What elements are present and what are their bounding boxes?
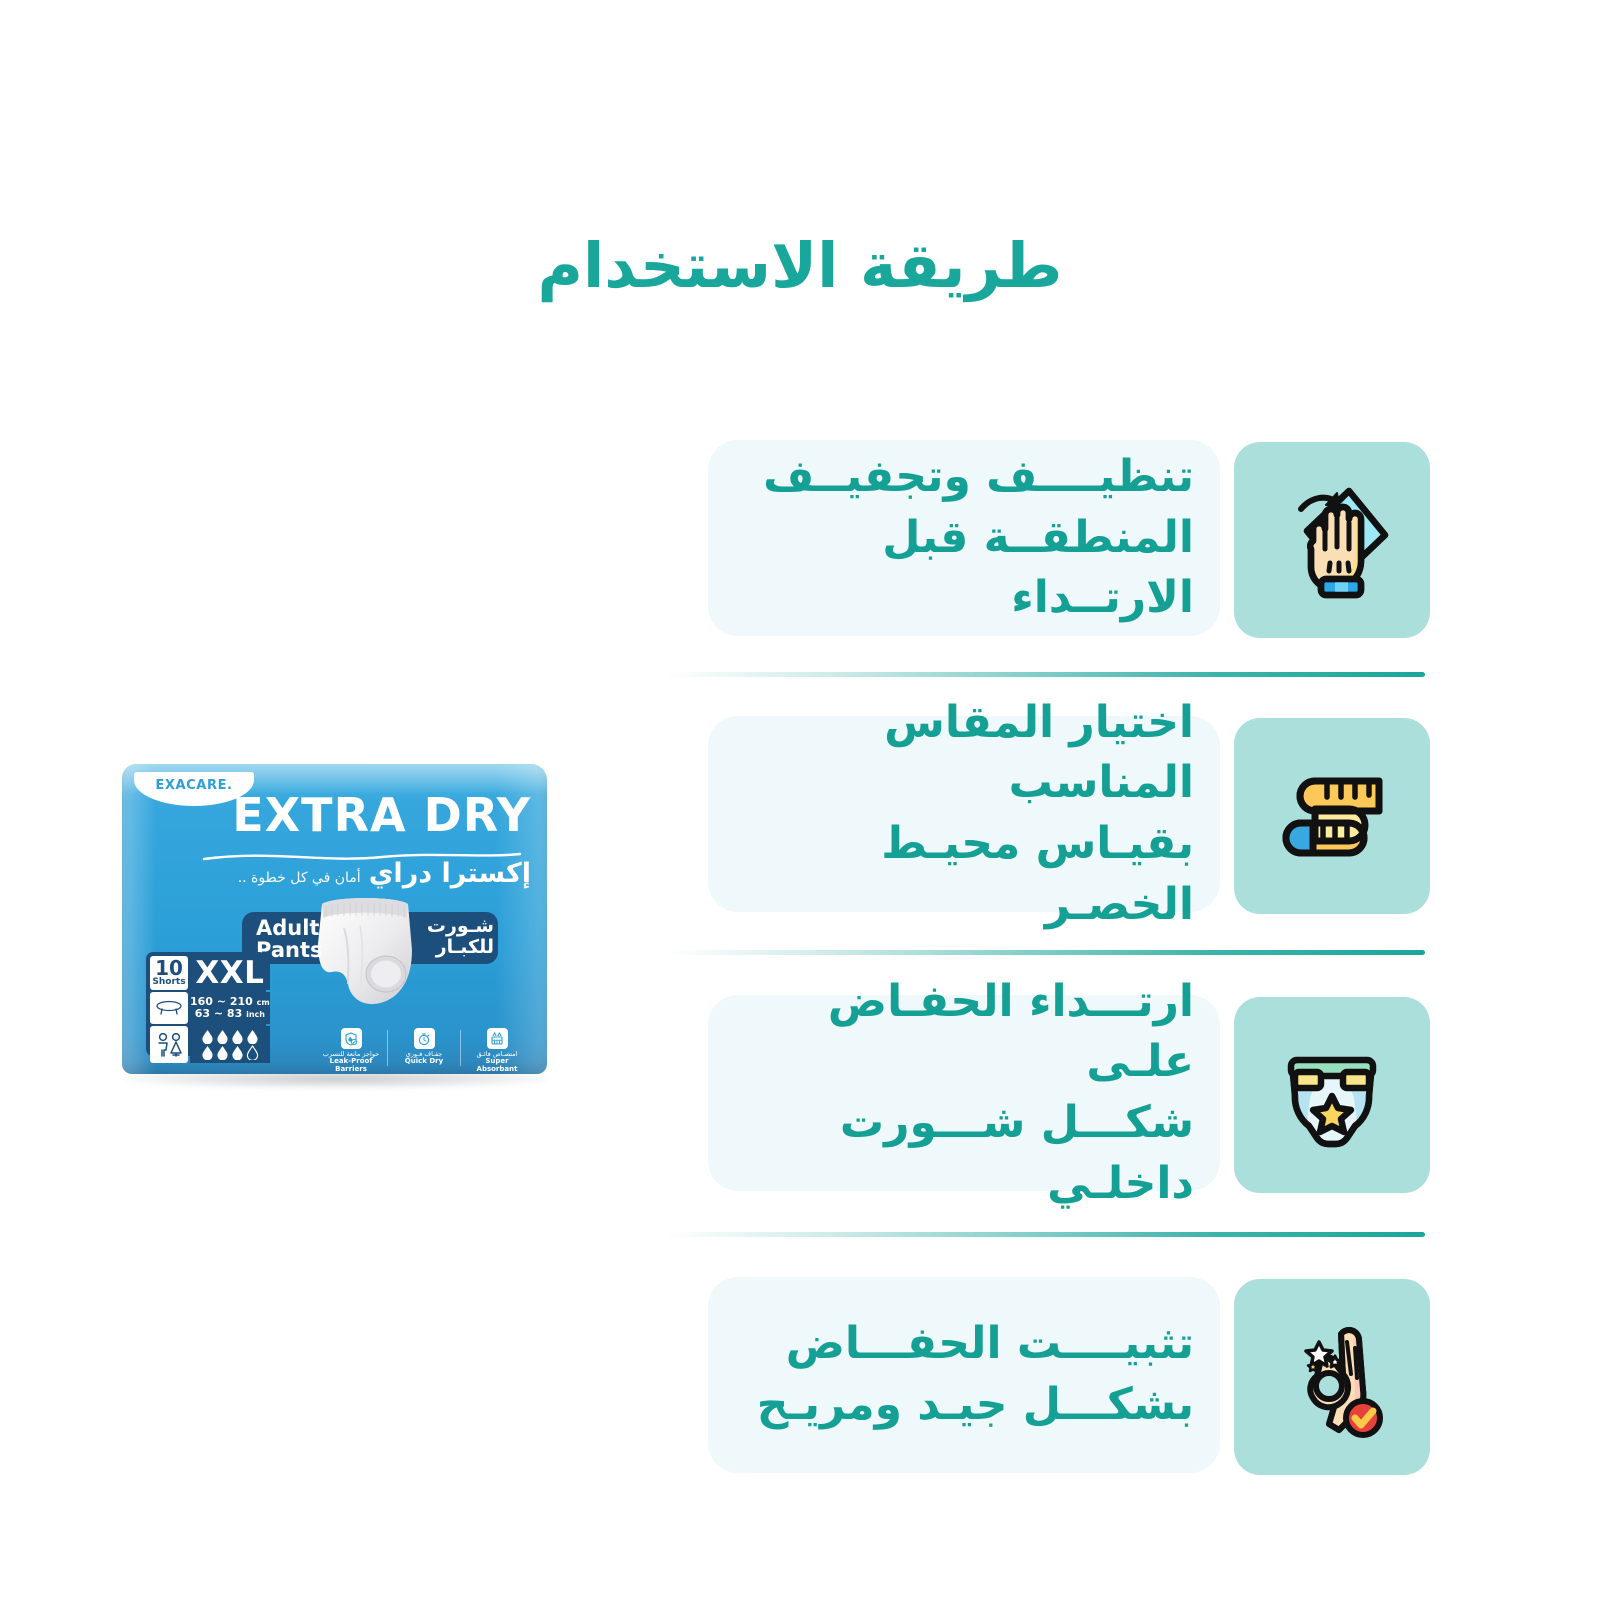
step-icon-tile-2 [1234,718,1430,914]
shield-drop-icon [341,1028,362,1049]
feature-super-absorbant: امتصـاص فائـق Super Absorbant [464,1028,530,1074]
drop-outline-8 [246,1045,259,1060]
step-card-2: اختيار المقاس المناسب بقيـاس محيـط الخصـ… [708,716,1220,912]
drop-filled-3 [231,1029,244,1044]
diaper-icon [1267,1030,1397,1160]
step-text-3: ارتـــداء الحفـاض علـى شكـــل شـــورت دا… [730,972,1194,1215]
waist-range: 160 ~ 210 cm 63 ~ 83 inch [190,992,270,1024]
product-title-ar: إكسترا دراي [369,858,531,889]
absorbency-drops [197,1026,263,1063]
drop-filled-4 [246,1029,259,1044]
drop-filled-1 [201,1029,214,1044]
waist-icon [150,992,188,1024]
step-text-1: تنظيــــف وتجفيــف المنطقــة قبل الارتــ… [730,447,1194,629]
brand-name: EXACARE. [155,778,232,793]
size-code: XXL [190,956,270,990]
pack-count-number: 10 [155,959,183,978]
product-tagline-ar: أمان في كل خطوة .. [238,870,361,886]
waist-range-inch: 63 ~ 83 inch [195,1008,265,1020]
feature-leak-proof-en: Leak-Proof Barriers [318,1058,384,1073]
hand-wipe-cloth-icon [1267,475,1397,605]
steps-list: تنظيــــف وتجفيــف المنطقــة قبل الارتــ… [660,432,1430,1522]
ok-hand-check-icon [1267,1312,1397,1442]
feature-super-absorbant-en: Super Absorbant [464,1058,530,1073]
product-package: EXACARE. EXTRA DRY إكسترا دراي أمان في ك… [118,760,558,1100]
product-features: حواجز مانعة للتسرب Leak-Proof Barriers ج… [318,1028,530,1072]
absorb-layers-icon [487,1028,508,1049]
absorbency-rating [190,1026,270,1063]
step-icon-tile-1 [1234,442,1430,638]
page-title: طريقة الاستخدام [0,232,1600,300]
step-text-4: تثبيــــت الحفـــاض بشكـــل جيـد ومريـح [730,1314,1194,1435]
adult-pants-label-en: Adult Pants [256,917,323,962]
measuring-tape-icon [1267,751,1397,881]
size-spec-box: 10 Shorts XXL 160 ~ 210 cm 63 ~ 83 inch [146,952,266,1056]
step-text-2: اختيار المقاس المناسب بقيـاس محيـط الخصـ… [730,693,1194,936]
step-item-1: تنظيــــف وتجفيــف المنطقــة قبل الارتــ… [660,440,1430,652]
product-subtitle-ar: إكسترا دراي أمان في كل خطوة .. [238,858,531,889]
feature-quick-dry-en: Quick Dry [391,1058,457,1066]
feature-leak-proof: حواجز مانعة للتسرب Leak-Proof Barriers [318,1028,384,1074]
drop-filled-5 [201,1045,214,1060]
stopwatch-icon [414,1028,435,1049]
step-card-3: ارتـــداء الحفـاض علـى شكـــل شـــورت دا… [708,995,1220,1191]
package-shadow [126,1072,546,1088]
step-item-2: اختيار المقاس المناسب بقيـاس محيـط الخصـ… [660,716,1430,928]
feature-quick-dry: جفـاف فـوري Quick Dry [391,1028,457,1066]
unisex-icon [150,1026,188,1063]
pack-count: 10 Shorts [150,956,188,990]
step-icon-tile-4 [1234,1279,1430,1475]
product-title-en: EXTRA DRY [232,792,531,838]
package-front: EXACARE. EXTRA DRY إكسترا دراي أمان في ك… [122,764,547,1074]
drop-filled-7 [231,1045,244,1060]
step-item-4: تثبيــــت الحفـــاض بشكـــل جيـد ومريـح [660,1277,1430,1489]
drop-filled-2 [216,1029,229,1044]
pack-count-label: Shorts [152,978,185,987]
step-item-3: ارتـــداء الحفـاض علـى شكـــل شـــورت دا… [660,995,1430,1207]
adult-pants-label-ar: شـورت للكبـار [420,916,494,959]
step-icon-tile-3 [1234,997,1430,1193]
drop-filled-6 [216,1045,229,1060]
step-card-4: تثبيــــت الحفـــاض بشكـــل جيـد ومريـح [708,1277,1220,1473]
label-line-1: Adult [256,917,323,939]
step-card-1: تنظيــــف وتجفيــف المنطقــة قبل الارتــ… [708,440,1220,636]
